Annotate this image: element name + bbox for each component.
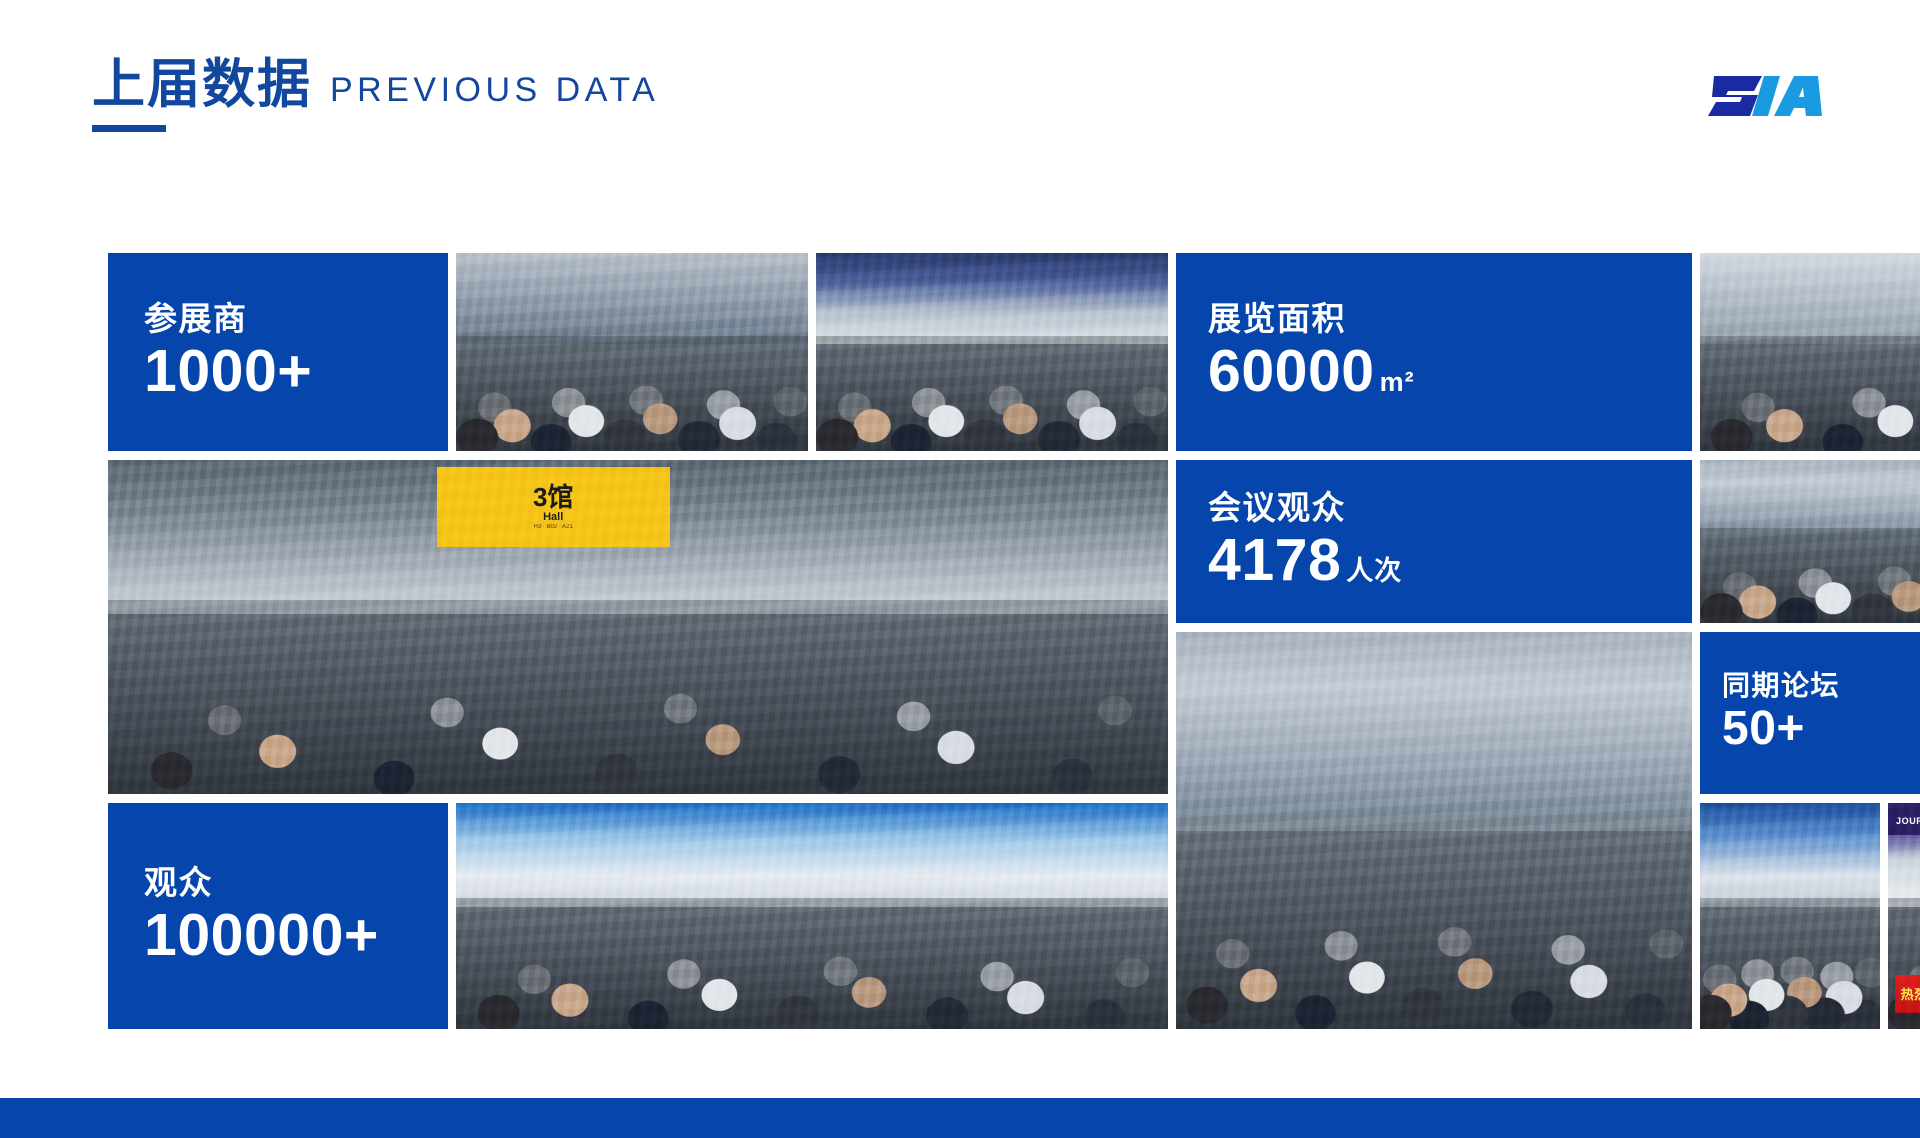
photo-crowd-layer [1700, 528, 1920, 623]
photo-media-crowd [1700, 460, 1920, 623]
photo-crowd-layer [816, 336, 1168, 451]
photo-visitor-aisle [456, 803, 1168, 1029]
hall-sign-small: H3 · B02 · A21 [534, 524, 573, 530]
title-underline [92, 125, 166, 132]
stat-card-exhibition-area: 展览面积 60000m² [1176, 253, 1692, 451]
photo-bg [1700, 253, 1920, 344]
photo-bg [108, 460, 1168, 614]
page-title-cn: 上届数据 [92, 58, 312, 111]
photo-booth-aisle [816, 253, 1168, 451]
stat-label-visitors: 观众 [144, 864, 448, 902]
photo-bg [1700, 460, 1920, 535]
stat-value-exhibition-area: 60000m² [1208, 338, 1692, 404]
photo-crowd-layer [1700, 898, 1880, 1029]
photo-bg [1700, 803, 1880, 907]
photo-bg [456, 253, 808, 344]
stat-card-visitors: 观众 100000+ [108, 803, 448, 1029]
photo-crowd-layer [108, 600, 1168, 794]
photo-crowd-layer [456, 898, 1168, 1029]
hall-sign: 3馆 Hall H3 · B02 · A21 [437, 467, 670, 547]
welcome-banner: 热烈欢迎中东外宾采购团前来参观2024上海工业展会 [1895, 975, 1920, 1013]
photo-crowd-layer [1888, 898, 1920, 1029]
stat-number-conference: 4178 [1208, 527, 1341, 593]
hall-sign-sub: Hall [543, 510, 563, 524]
stat-card-exhibitors: 参展商 1000+ [108, 253, 448, 451]
sia-logo [1706, 64, 1824, 126]
photo-crowd-layer [1176, 831, 1692, 1030]
photo-bg [1176, 632, 1692, 815]
stat-label-conference: 会议观众 [1208, 489, 1692, 527]
stat-label-forums: 同期论坛 [1722, 670, 1920, 702]
photo-crowd-layer [456, 336, 808, 451]
stat-unit-exhibition-area: m² [1380, 367, 1415, 397]
photo-delegation-group: JOURNEY TO EXHIBITION 热烈欢迎中东外宾采购团前来参观202… [1888, 803, 1920, 1029]
stat-card-forums: 同期论坛 50+ [1700, 632, 1920, 794]
slide-root: 上届数据 PREVIOUS DATA 参展商 1000+ 展览面 [0, 0, 1920, 1138]
photo-crowd-layer [1700, 336, 1920, 451]
photo-hall3-crowd: 3馆 Hall H3 · B02 · A21 [108, 460, 1168, 794]
photo-expo-booth-screen [1700, 253, 1920, 451]
stat-label-exhibitors: 参展商 [144, 300, 448, 338]
photo-reliance-booth [1700, 803, 1880, 1029]
stats-photo-mosaic: 参展商 1000+ 展览面积 60000m² [108, 253, 1820, 1030]
photo-atrium-crowd [1176, 632, 1692, 1029]
stat-value-conference: 4178人次 [1208, 527, 1692, 593]
hall-sign-main: 3馆 [533, 484, 573, 510]
expo-top-banner-text: JOURNEY TO EXHIBITION [1896, 816, 1920, 826]
page-header: 上届数据 PREVIOUS DATA [92, 58, 659, 111]
stat-value-forums: 50+ [1722, 702, 1920, 756]
page-title-en: PREVIOUS DATA [330, 73, 659, 111]
footer-bar [0, 1098, 1920, 1138]
stat-value-exhibitors: 1000+ [144, 338, 448, 404]
photo-bg [456, 803, 1168, 907]
photo-bg [816, 253, 1168, 344]
stat-card-conference: 会议观众 4178人次 [1176, 460, 1692, 623]
photo-bg [1888, 803, 1920, 907]
expo-top-banner: JOURNEY TO EXHIBITION [1888, 808, 1920, 835]
photo-conference-hall [456, 253, 808, 451]
stat-number-exhibition-area: 60000 [1208, 338, 1375, 404]
stat-label-exhibition-area: 展览面积 [1208, 300, 1692, 338]
stat-value-visitors: 100000+ [144, 902, 448, 968]
stat-unit-conference: 人次 [1346, 556, 1402, 586]
